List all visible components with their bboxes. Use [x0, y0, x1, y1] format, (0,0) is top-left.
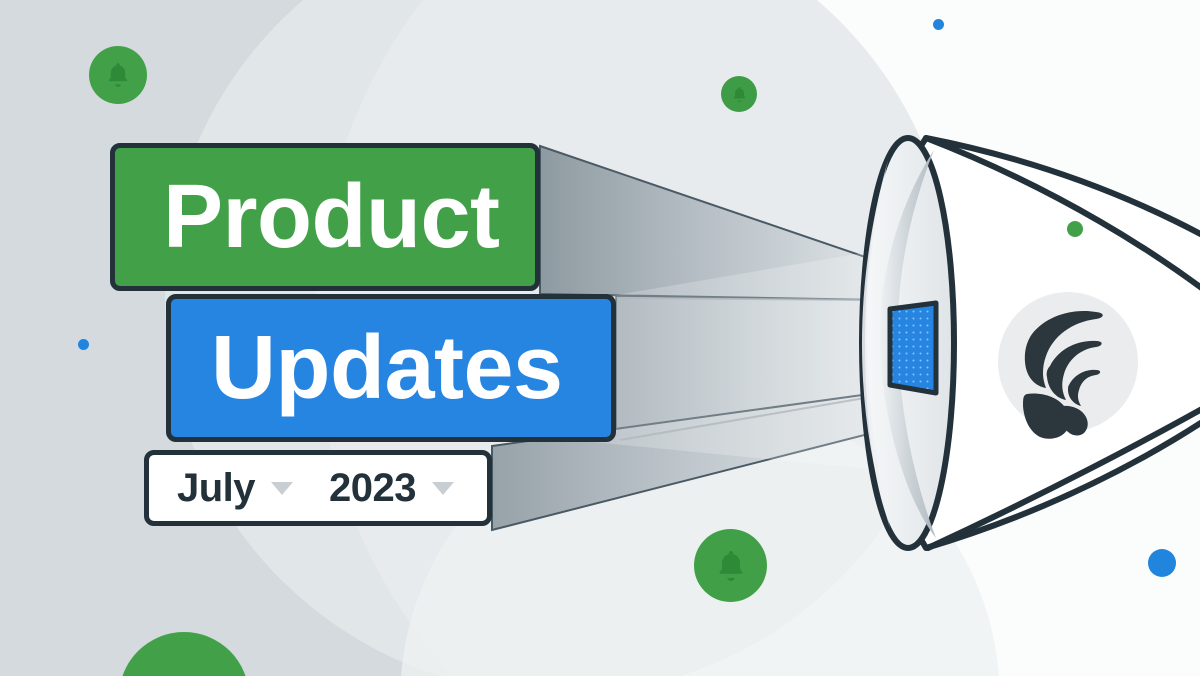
month-value: July	[177, 466, 255, 511]
megaphone-blue-panel	[890, 303, 936, 393]
headline-line-2: Updates	[211, 323, 563, 413]
year-dropdown[interactable]: 2023	[329, 466, 454, 511]
month-dropdown[interactable]: July	[177, 466, 293, 511]
year-value: 2023	[329, 466, 416, 511]
headline-banner-updates: Updates	[166, 294, 616, 442]
chevron-down-icon[interactable]	[432, 482, 454, 495]
chevron-down-icon[interactable]	[271, 482, 293, 495]
hero-banner-canvas: Product Updates July 2023	[0, 0, 1200, 676]
headline-line-1: Product	[163, 172, 500, 262]
date-selector-chip[interactable]: July 2023	[144, 450, 492, 526]
headline-banner-product: Product	[110, 143, 540, 291]
